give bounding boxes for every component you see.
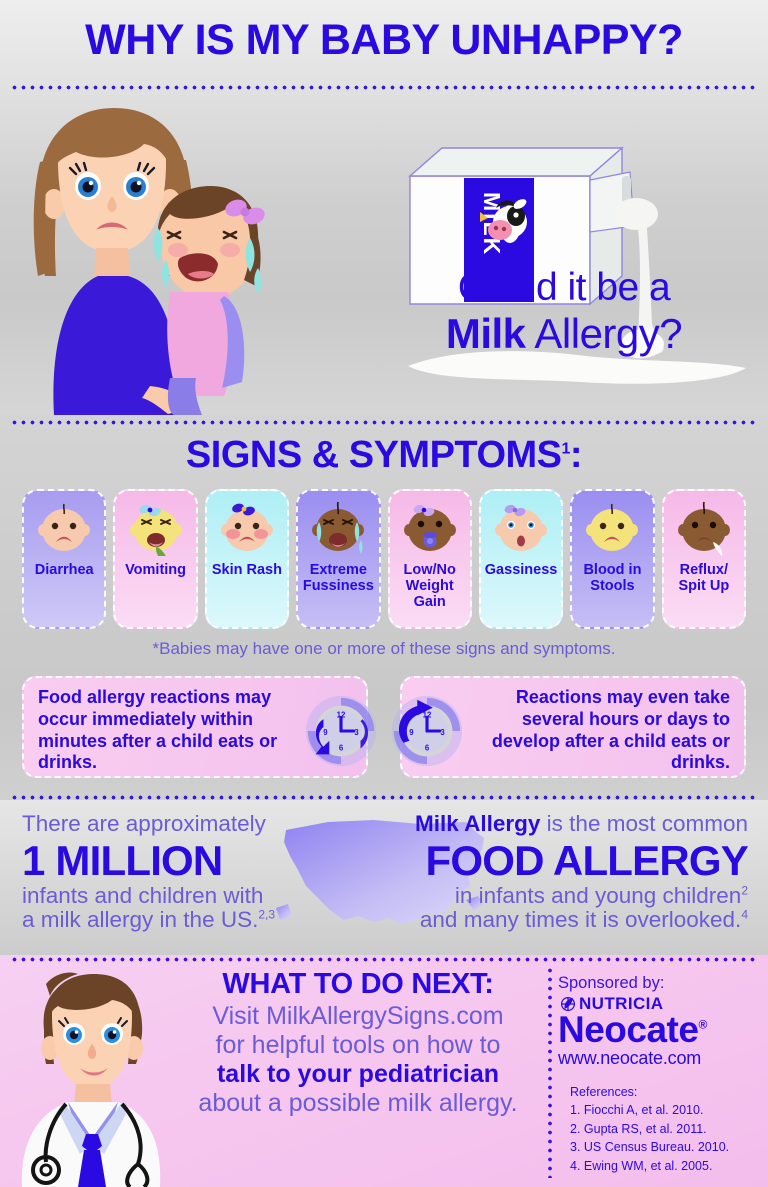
- svg-text:6: 6: [425, 744, 430, 753]
- divider-above-stats: [10, 795, 758, 800]
- stat-right-line1-rest: is the most common: [540, 811, 748, 836]
- baby-face-icon: [490, 500, 552, 556]
- references-block: References: 1. Fiocchi A, et al. 2010.2.…: [570, 1083, 766, 1175]
- baby-face-icon: [399, 500, 461, 556]
- cta-line-allergy: about a possible milk allergy.: [172, 1089, 544, 1118]
- symptom-card[interactable]: Vomiting: [113, 489, 197, 629]
- stat-right-line3-ref: 2: [741, 883, 748, 897]
- timing-immediate-box: Food allergy reactions may occur immedia…: [22, 676, 368, 778]
- symptoms-footnote: *Babies may have one or more of these si…: [0, 639, 768, 659]
- vertical-divider: [548, 966, 552, 1178]
- references-heading: References:: [570, 1083, 766, 1101]
- infographic-page: WHY IS MY BABY UNHAPPY?: [0, 0, 768, 1187]
- signs-symptoms-heading: SIGNS & SYMPTOMS1:: [0, 434, 768, 477]
- stat-left-line1: There are approximately: [22, 812, 352, 836]
- stat-left-line4: a milk allergy in the US.2,3: [22, 908, 352, 932]
- mother-and-crying-baby-illustration: [18, 100, 308, 415]
- stat-right-line1: Milk Allergy is the most common: [400, 812, 748, 836]
- symptom-label: Blood in Stools: [572, 562, 652, 594]
- baby-face-icon: [673, 500, 735, 556]
- timing-delayed-text: Reactions may even take several hours or…: [492, 687, 730, 772]
- symptom-card[interactable]: Diarrhea: [22, 489, 106, 629]
- cta-line-tools: for helpful tools on how to: [172, 1031, 544, 1060]
- stat-right-line4: and many times it is overlooked.4: [400, 908, 748, 932]
- symptom-card[interactable]: Extreme Fussiness: [296, 489, 380, 629]
- symptom-label: Reflux/ Spit Up: [664, 562, 744, 594]
- stat-right-big-text: FOOD ALLERGY: [400, 838, 748, 883]
- baby-face-icon: [581, 500, 643, 556]
- symptom-card-list: Diarrhea Vomiting Skin Rash Extreme Fuss…: [22, 489, 746, 629]
- symptom-card[interactable]: Gassiness: [479, 489, 563, 629]
- reference-item: 3. US Census Bureau. 2010.: [570, 1138, 766, 1156]
- cta-heading: WHAT TO DO NEXT:: [172, 968, 544, 1002]
- stat-right-line4-text: and many times it is overlooked.: [420, 907, 741, 932]
- symptom-card[interactable]: Low/No Weight Gain: [388, 489, 472, 629]
- symptom-label: Gassiness: [483, 562, 560, 578]
- symptom-label: Skin Rash: [210, 562, 284, 578]
- stat-left-big-number: 1 MILLION: [22, 838, 352, 883]
- cta-line-website[interactable]: Visit MilkAllergySigns.com: [172, 1002, 544, 1031]
- sponsored-by-label: Sponsored by:: [558, 974, 764, 993]
- stat-most-common-food-allergy: Milk Allergy is the most common FOOD ALL…: [400, 812, 748, 931]
- could-it-be-line1: Could it be a: [368, 268, 760, 307]
- references-list: 1. Fiocchi A, et al. 2010.2. Gupta RS, e…: [570, 1101, 766, 1175]
- signs-heading-footnote: 1: [562, 440, 570, 457]
- svg-text:3: 3: [440, 728, 445, 737]
- baby-face-icon: [125, 500, 187, 556]
- milk-allergy-line: Milk Allergy?: [368, 313, 760, 355]
- neocate-wordmark: Neocate®: [558, 1012, 764, 1047]
- doctor-illustration: [2, 968, 174, 1187]
- svg-text:9: 9: [323, 728, 328, 737]
- signs-heading-text: SIGNS & SYMPTOMS: [186, 434, 562, 476]
- page-title: WHY IS MY BABY UNHAPPY?: [0, 16, 768, 65]
- could-it-be-headline: Could it be a Milk Allergy?: [368, 268, 760, 355]
- clock-icon: 12369: [388, 692, 466, 770]
- cta-line-pediatrician: talk to your pediatrician: [172, 1060, 544, 1089]
- stat-right-line3: in infants and young children2: [400, 884, 748, 908]
- stat-right-line3-text: in infants and young children: [455, 883, 741, 908]
- divider-under-title: [10, 85, 758, 90]
- timing-delayed-box: Reactions may even take several hours or…: [400, 676, 746, 778]
- stat-right-line1-bold: Milk Allergy: [415, 811, 540, 836]
- neocate-website-url[interactable]: www.neocate.com: [558, 1048, 764, 1069]
- sponsor-block: Sponsored by: NUTRICIA Neocate® www.neoc…: [558, 974, 764, 1069]
- call-to-action-block: WHAT TO DO NEXT: Visit MilkAllergySigns.…: [172, 968, 544, 1118]
- svg-text:9: 9: [409, 728, 414, 737]
- reference-item: 2. Gupta RS, et al. 2011.: [570, 1120, 766, 1138]
- stat-left-line3: infants and children with: [22, 884, 352, 908]
- svg-text:6: 6: [339, 744, 344, 753]
- stat-right-line4-ref: 4: [741, 907, 748, 921]
- symptom-label: Diarrhea: [33, 562, 96, 578]
- timing-immediate-text: Food allergy reactions may occur immedia…: [38, 687, 277, 772]
- clock-icon: 12369: [302, 692, 380, 770]
- symptom-card[interactable]: Blood in Stools: [570, 489, 654, 629]
- divider-above-signs: [10, 420, 758, 425]
- reference-item: 4. Ewing WM, et al. 2005.: [570, 1157, 766, 1175]
- stat-one-million: There are approximately 1 MILLION infant…: [22, 812, 352, 931]
- milk-carton-pouring-illustration: MILK: [390, 128, 760, 398]
- registered-mark: ®: [698, 1018, 706, 1032]
- stat-left-line4-refs: 2,3: [258, 907, 275, 921]
- baby-face-icon: [33, 500, 95, 556]
- svg-text:3: 3: [354, 728, 359, 737]
- symptom-label: Low/No Weight Gain: [390, 562, 470, 611]
- divider-above-footer: [10, 957, 758, 962]
- symptom-label: Vomiting: [123, 562, 188, 578]
- neocate-text: Neocate: [558, 1009, 698, 1050]
- stat-left-line4-text: a milk allergy in the US.: [22, 907, 258, 932]
- allergy-word: Allergy?: [526, 310, 683, 357]
- baby-face-icon: [216, 500, 278, 556]
- symptom-label: Extreme Fussiness: [298, 562, 378, 594]
- symptom-card[interactable]: Skin Rash: [205, 489, 289, 629]
- milk-word: Milk: [446, 310, 526, 357]
- symptom-card[interactable]: Reflux/ Spit Up: [662, 489, 746, 629]
- reference-item: 1. Fiocchi A, et al. 2010.: [570, 1101, 766, 1119]
- baby-face-icon: [307, 500, 369, 556]
- signs-heading-colon: :: [570, 434, 582, 476]
